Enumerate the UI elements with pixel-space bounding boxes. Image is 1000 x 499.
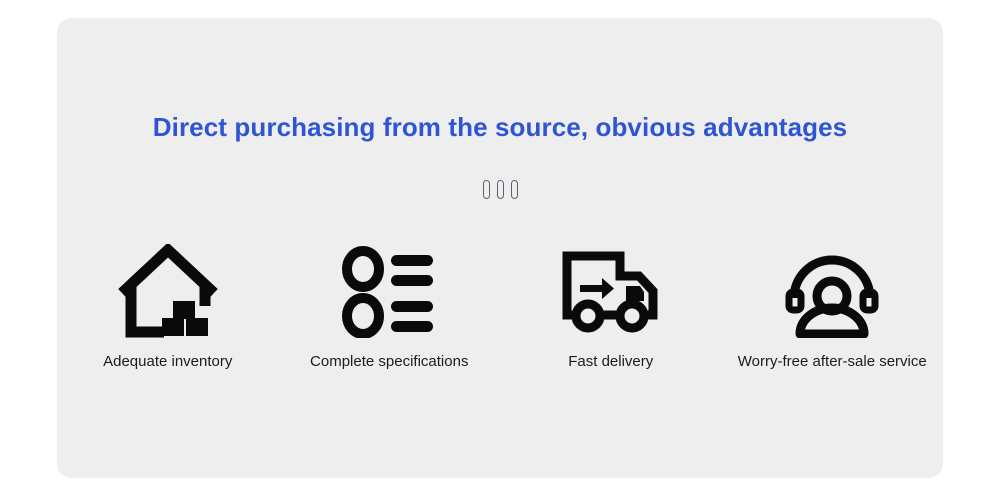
feature-label: Adequate inventory [103, 353, 232, 371]
separator-pip-3 [511, 180, 518, 199]
warehouse-inventory-icon [118, 243, 218, 341]
feature-item-fast-delivery: Fast delivery [500, 243, 722, 371]
page-title: Direct purchasing from the source, obvio… [0, 112, 1000, 143]
decorative-separator [0, 180, 1000, 199]
feature-list: Adequate inventory Complete specificatio… [57, 243, 943, 371]
separator-pip-1 [483, 180, 490, 199]
separator-pip-2 [497, 180, 504, 199]
support-agent-headset-icon [784, 243, 880, 341]
feature-item-complete-specifications: Complete specifications [279, 243, 501, 371]
feature-item-after-sale-service: Worry-free after-sale service [722, 243, 944, 371]
delivery-truck-icon [560, 243, 662, 341]
feature-label: Worry-free after-sale service [738, 353, 927, 371]
feature-label: Fast delivery [568, 353, 653, 371]
feature-item-adequate-inventory: Adequate inventory [57, 243, 279, 371]
promo-banner: Direct purchasing from the source, obvio… [0, 0, 1000, 499]
feature-label: Complete specifications [310, 353, 468, 371]
specification-list-icon [341, 243, 437, 341]
